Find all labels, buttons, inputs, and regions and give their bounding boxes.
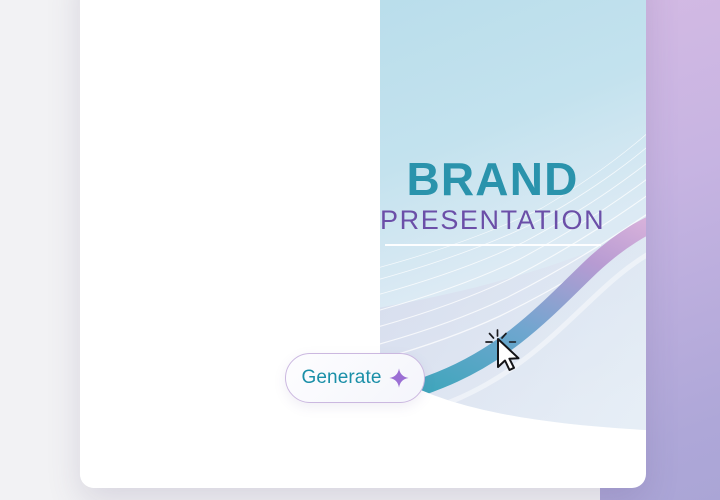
slide-subtitle-text: PRESENTATION xyxy=(380,207,605,234)
generate-button-label: Generate xyxy=(301,367,381,389)
sparkle-icon xyxy=(389,368,409,388)
slide-title-text: BRAND xyxy=(380,156,605,202)
headline-divider xyxy=(385,244,601,246)
slide-headline-block: BRAND PRESENTATION xyxy=(380,156,605,246)
form-column xyxy=(80,0,380,488)
screen-root: Title Subtitle BRAND PRESENTATION Genera… xyxy=(0,0,720,500)
generate-button[interactable]: Generate xyxy=(285,353,425,403)
slide-editor-card: Title Subtitle BRAND PRESENTATION Genera… xyxy=(80,0,646,488)
